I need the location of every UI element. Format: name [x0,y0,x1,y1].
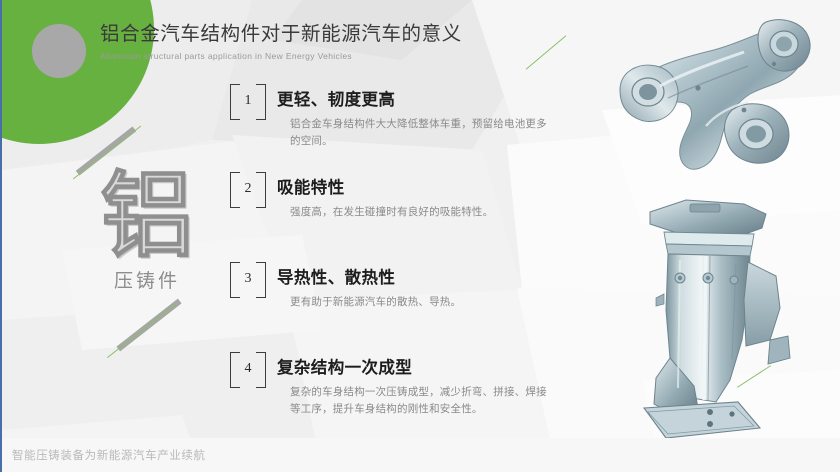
gray-circle-accent [32,24,86,78]
feature-number-1: 1 [230,84,266,118]
footer-text: 智能压铸装备为新能源汽车产业续航 [12,447,206,463]
slide-header: 铝合金汽车结构件对于新能源汽车的意义 Aluminum structural p… [100,22,580,61]
feature-number-3: 3 [230,262,266,296]
feature-heading-2: 吸能特性 [277,174,345,198]
feature-body-2: 强度高，在发生碰撞时有良好的吸能特性。 [290,204,550,221]
feature-number-badge-2: 2 [230,172,266,206]
feature-heading-1: 更轻、韧度更高 [277,86,395,110]
feature-heading-4: 复杂结构一次成型 [277,354,412,378]
feature-number-badge-1: 1 [230,84,266,118]
page-subtitle: Aluminum structural parts application in… [100,51,580,61]
presentation-slide: 铝合金汽车结构件对于新能源汽车的意义 Aluminum structural p… [0,0,840,472]
feature-number-4: 4 [230,352,266,386]
brand-character: 铝 [62,172,232,260]
control-arm-casting-illustration [598,6,840,196]
feature-body-1: 铝合金车身结构件大大降低整体车重，预留给电池更多的空间。 [290,116,550,151]
feature-number-badge-3: 3 [230,262,266,296]
photo-aluminum-control-arm [598,6,840,196]
brand-subtitle: 压铸件 [62,266,232,293]
page-title: 铝合金汽车结构件对于新能源汽车的意义 [100,22,580,46]
shock-tower-casting-illustration [620,190,820,452]
feature-body-3: 更有助于新能源汽车的散热、导热。 [290,294,550,311]
photo-aluminum-shock-tower [620,190,820,452]
feature-body-4: 复杂的车身结构一次压铸成型，减少折弯、拼接、焊接等工序，提升车身结构的刚性和安全… [290,384,550,419]
brand-word-block: 铝 压铸件 [62,172,232,293]
feature-heading-3: 导热性、散热性 [277,264,395,288]
feature-number-2: 2 [230,172,266,206]
feature-number-badge-4: 4 [230,352,266,386]
